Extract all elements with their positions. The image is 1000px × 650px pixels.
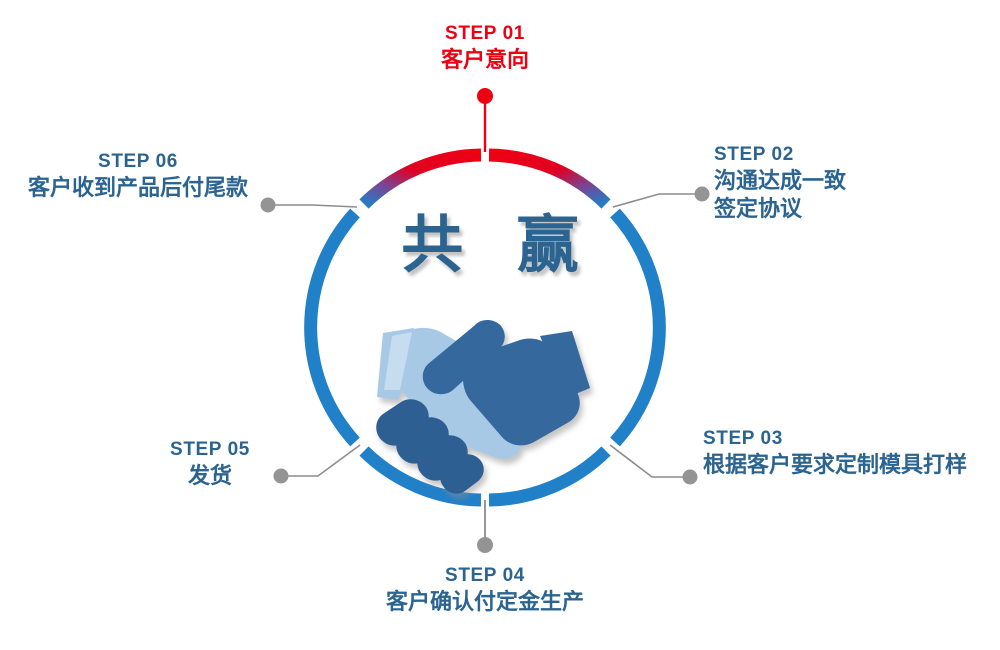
step-05-title-line-1: 发货	[150, 462, 270, 490]
dot-step-02	[695, 187, 710, 202]
dot-step-01	[477, 88, 493, 104]
dot-step-03	[683, 470, 698, 485]
step-label-01[interactable]: STEP 01 客户意向	[385, 22, 585, 74]
ring-segment-5	[311, 213, 355, 442]
step-03-title-line-1: 根据客户要求定制模具打样	[703, 451, 967, 479]
ring-segment-6	[364, 155, 481, 204]
connector-step-02	[613, 194, 700, 207]
step-label-02[interactable]: STEP 02 沟通达成一致 签定协议	[714, 143, 846, 223]
step-02-title-line-2: 签定协议	[714, 195, 846, 223]
diagram-canvas: 共 赢 STEP 01 客户意向 STEP 02 沟通达成一致 签定协议 STE…	[0, 0, 1000, 650]
step-04-kicker: STEP 04	[335, 564, 635, 588]
step-label-06[interactable]: STEP 06 客户收到产品后付尾款	[24, 150, 252, 202]
dot-step-05	[274, 469, 289, 484]
step-04-title-line-1: 客户确认付定金生产	[335, 588, 635, 616]
step-label-05[interactable]: STEP 05 发货	[150, 438, 270, 490]
process-circle-svg	[0, 0, 1000, 650]
connector-step-03	[610, 445, 688, 477]
step-label-03[interactable]: STEP 03 根据客户要求定制模具打样	[703, 427, 967, 479]
ring-segment-2	[615, 213, 659, 442]
connector-step-05	[283, 445, 360, 476]
step-05-kicker: STEP 05	[150, 438, 270, 462]
step-02-kicker: STEP 02	[714, 143, 846, 167]
connector-step-06	[270, 205, 357, 207]
step-01-title-line-1: 客户意向	[385, 46, 585, 74]
ring-segment-1	[489, 155, 606, 204]
step-06-kicker: STEP 06	[24, 150, 252, 174]
step-01-kicker: STEP 01	[385, 22, 585, 46]
step-06-title-line-1: 客户收到产品后付尾款	[24, 174, 252, 202]
step-02-title-line-1: 沟通达成一致	[714, 167, 846, 195]
step-label-04[interactable]: STEP 04 客户确认付定金生产	[335, 564, 635, 616]
center-wordmark: 共 赢	[383, 214, 597, 276]
dot-step-06	[261, 198, 276, 213]
step-03-kicker: STEP 03	[703, 427, 967, 451]
handshake-icon	[376, 320, 590, 494]
dot-step-04	[477, 537, 493, 553]
